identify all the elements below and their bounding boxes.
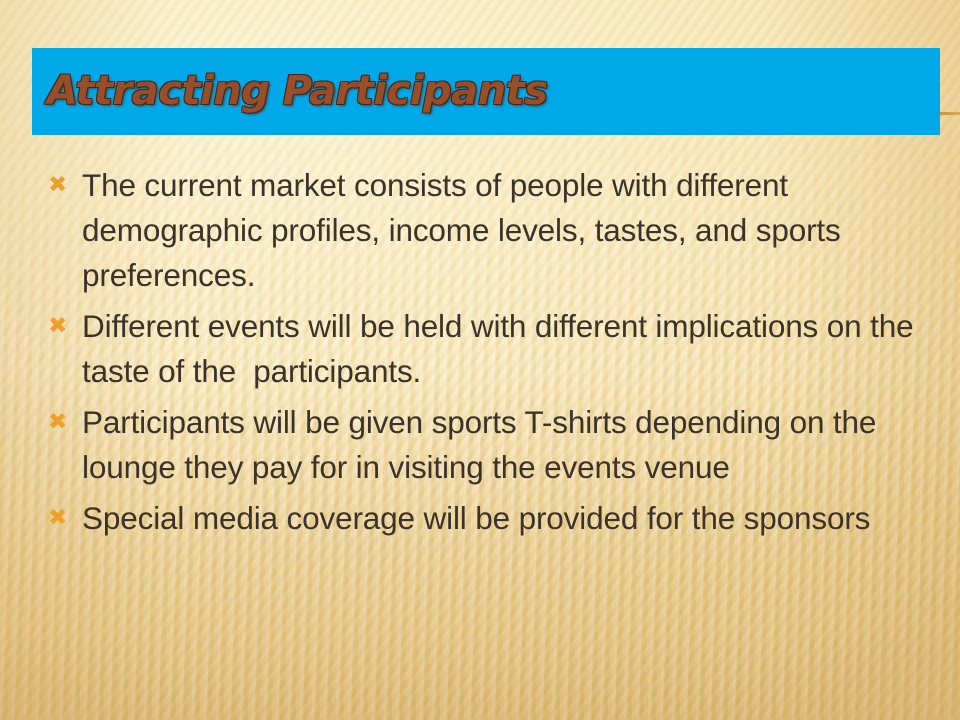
- slide-title-banner: Attracting Participants: [32, 48, 940, 135]
- list-item-text: The current market consists of people wi…: [82, 163, 934, 298]
- list-item: ✖ Special media coverage will be provide…: [44, 496, 934, 541]
- slide-title: Attracting Participants: [47, 68, 548, 114]
- slide-bullet-list: ✖ The current market consists of people …: [44, 163, 934, 547]
- list-item-text: Participants will be given sports T-shir…: [82, 400, 934, 490]
- bullet-cross-icon: ✖: [44, 304, 82, 349]
- bullet-cross-icon: ✖: [44, 496, 82, 541]
- list-item: ✖ The current market consists of people …: [44, 163, 934, 298]
- title-divider-rule: [940, 112, 960, 115]
- list-item: ✖ Participants will be given sports T-sh…: [44, 400, 934, 490]
- list-item: ✖ Different events will be held with dif…: [44, 304, 934, 394]
- list-item-text: Special media coverage will be provided …: [82, 496, 934, 541]
- bullet-cross-icon: ✖: [44, 163, 82, 208]
- list-item-text: Different events will be held with diffe…: [82, 304, 934, 394]
- presentation-slide: Attracting Participants ✖ The current ma…: [0, 0, 960, 720]
- bullet-cross-icon: ✖: [44, 400, 82, 445]
